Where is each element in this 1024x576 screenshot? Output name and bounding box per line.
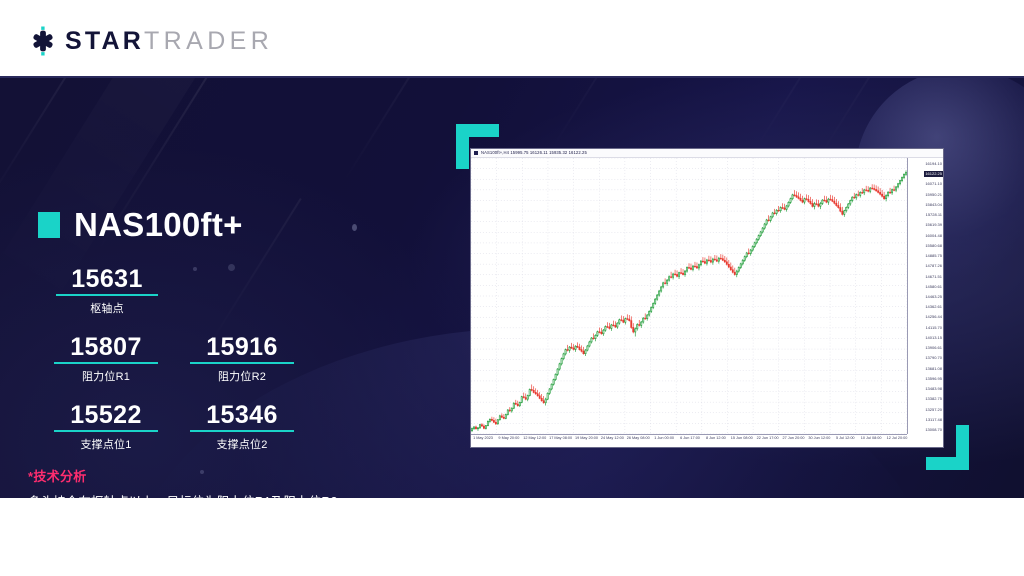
price-tick-label: 15580.68 [925,244,942,248]
time-tick-label: 1 May 2023 [473,437,493,441]
support-1-value: 15522 [70,402,142,429]
price-tick-label: 15619.39 [925,223,942,227]
pivot-underline [190,362,294,364]
price-tick-label: 14013.15 [925,336,942,340]
price-tick-label: 13483.98 [925,387,942,391]
time-tick-label: 24 May 12:00 [601,437,624,441]
price-tick-label: 14885.75 [925,254,942,258]
decor-streak [341,78,422,186]
support-1-label: 支撑点位1 [80,436,131,452]
chart-price-axis: 16194.1016122.2516071.1015950.2115843.04… [907,158,943,434]
time-tick-label: 1 Jun 00:00 [654,437,674,441]
time-tick-label: 12 Jul 20:00 [887,437,908,441]
pivot-underline [56,294,158,296]
resistance-1-block: 15807 阻力位R1 [54,334,158,384]
time-tick-label: 12 May 12:00 [523,437,546,441]
price-tick-label: 14256.44 [925,315,942,319]
analysis-heading: *技术分析 [28,466,418,485]
time-tick-label: 10 Jul 08:00 [861,437,882,441]
price-tick-label: 15843.04 [925,203,942,207]
decor-streak [546,78,622,158]
footer-bar: 汇评 | 2023年7月14日 [0,498,1024,576]
pivot-point-label: 枢轴点 [90,300,124,316]
price-tick-label: 13596.95 [925,377,942,381]
decor-streak [751,78,832,156]
pivot-levels: 15631 枢轴点 15807 阻力位R1 15916 阻力位R2 [38,266,368,452]
title-accent-square [38,212,60,238]
brand-trader-text: TRADER [144,29,273,54]
support-2-block: 15346 支撑点位2 [190,402,294,452]
time-tick-label: 22 Jun 17:00 [757,437,779,441]
price-tick-label: 14463.25 [925,295,942,299]
pivot-underline [190,430,294,432]
price-tick-label: 15950.21 [925,193,942,197]
decor-dot [352,224,357,231]
resistance-2-value: 15916 [206,334,278,361]
chart-plot-area[interactable] [471,158,907,434]
technical-analysis: *技术分析 多头持仓在枢轴点以上，目标位为阻力位R1及阻力位R2。 若低于枢轴点… [28,466,418,498]
brand-star-text: STAR [65,29,144,54]
pivot-underline [54,430,158,432]
price-tick-label: 13790.70 [925,356,942,360]
pivot-row-support: 15522 支撑点位1 15346 支撑点位2 [38,402,368,452]
decor-streak [0,78,12,227]
time-tick-label: 26 May 08:00 [627,437,650,441]
instrument-title: NAS100ft+ [38,208,243,241]
time-tick-label: 5 Jul 12:00 [836,437,855,441]
chart-header-marker [474,151,478,155]
brand-logo: STAR TRADER [28,26,273,56]
price-tick-label: 13906.61 [925,346,942,350]
pivot-underline [54,362,158,364]
price-tick-label: 13681.08 [925,367,942,371]
price-tick-label: 13117.48 [926,418,942,422]
six-point-star-icon [28,26,58,56]
resistance-1-value: 15807 [70,334,142,361]
price-tick-label: 14362.61 [925,305,942,309]
time-tick-label: 6 Jun 17:00 [680,437,700,441]
price-tick-label: 16004.48 [925,234,942,238]
time-tick-label: 15 Jun 08:00 [731,437,753,441]
corner-bracket-top-left [456,124,499,137]
pivot-row-resistance: 15807 阻力位R1 15916 阻力位R2 [38,334,368,384]
price-tick-label: 14787.26 [925,264,942,268]
hero-panel: NAS100ft+ 15631 枢轴点 15807 阻力位R1 15916 [0,78,1024,498]
pivot-row-pivot: 15631 枢轴点 [38,266,368,316]
price-tick-label: 13257.20 [925,408,942,412]
price-tick-label: 14580.61 [925,285,942,289]
price-tick-label: 15728.11 [926,213,942,217]
time-tick-label: 9 May 20:00 [498,437,519,441]
candlestick-svg [471,158,907,434]
header-bar: STAR TRADER [0,0,1024,78]
current-price-label: 16122.25 [924,171,943,177]
chart-ohlc-label: NAS100ft+,H4 15995.75 16126.11 15935.32 … [481,151,587,155]
time-tick-label: 17 May 08:00 [549,437,572,441]
time-tick-label: 19 May 20:00 [575,437,598,441]
price-tick-label: 14671.51 [925,275,942,279]
time-tick-label: 8 Jun 12:00 [706,437,726,441]
instrument-name: NAS100ft+ [74,208,243,241]
price-chart[interactable]: NAS100ft+,H4 15995.75 16126.11 15935.32 … [470,148,944,448]
poster-root: STAR TRADER NAS100ft+ [0,0,1024,576]
pivot-point-block: 15631 枢轴点 [56,266,158,316]
time-tick-label: 30 Jun 12:00 [808,437,830,441]
price-tick-label: 14115.70 [926,326,942,330]
resistance-2-block: 15916 阻力位R2 [190,334,294,384]
chart-header: NAS100ft+,H4 15995.75 16126.11 15935.32 … [471,149,943,158]
support-2-label: 支撑点位2 [216,436,267,452]
resistance-1-label: 阻力位R1 [82,368,130,384]
chart-time-axis: 1 May 20239 May 20:0012 May 12:0017 May … [471,434,907,447]
corner-bracket-bottom-right [926,457,969,470]
price-tick-label: 16071.10 [925,182,942,186]
resistance-2-label: 阻力位R2 [218,368,266,384]
price-tick-label: 16194.10 [925,162,942,166]
brand-wordmark: STAR TRADER [65,29,273,54]
price-tick-label: 13382.75 [925,397,942,401]
pivot-point-value: 15631 [71,266,143,293]
support-2-value: 15346 [206,402,278,429]
support-1-block: 15522 支撑点位1 [54,402,158,452]
time-tick-label: 27 Jun 20:00 [783,437,805,441]
price-tick-label: 13008.70 [925,428,942,432]
